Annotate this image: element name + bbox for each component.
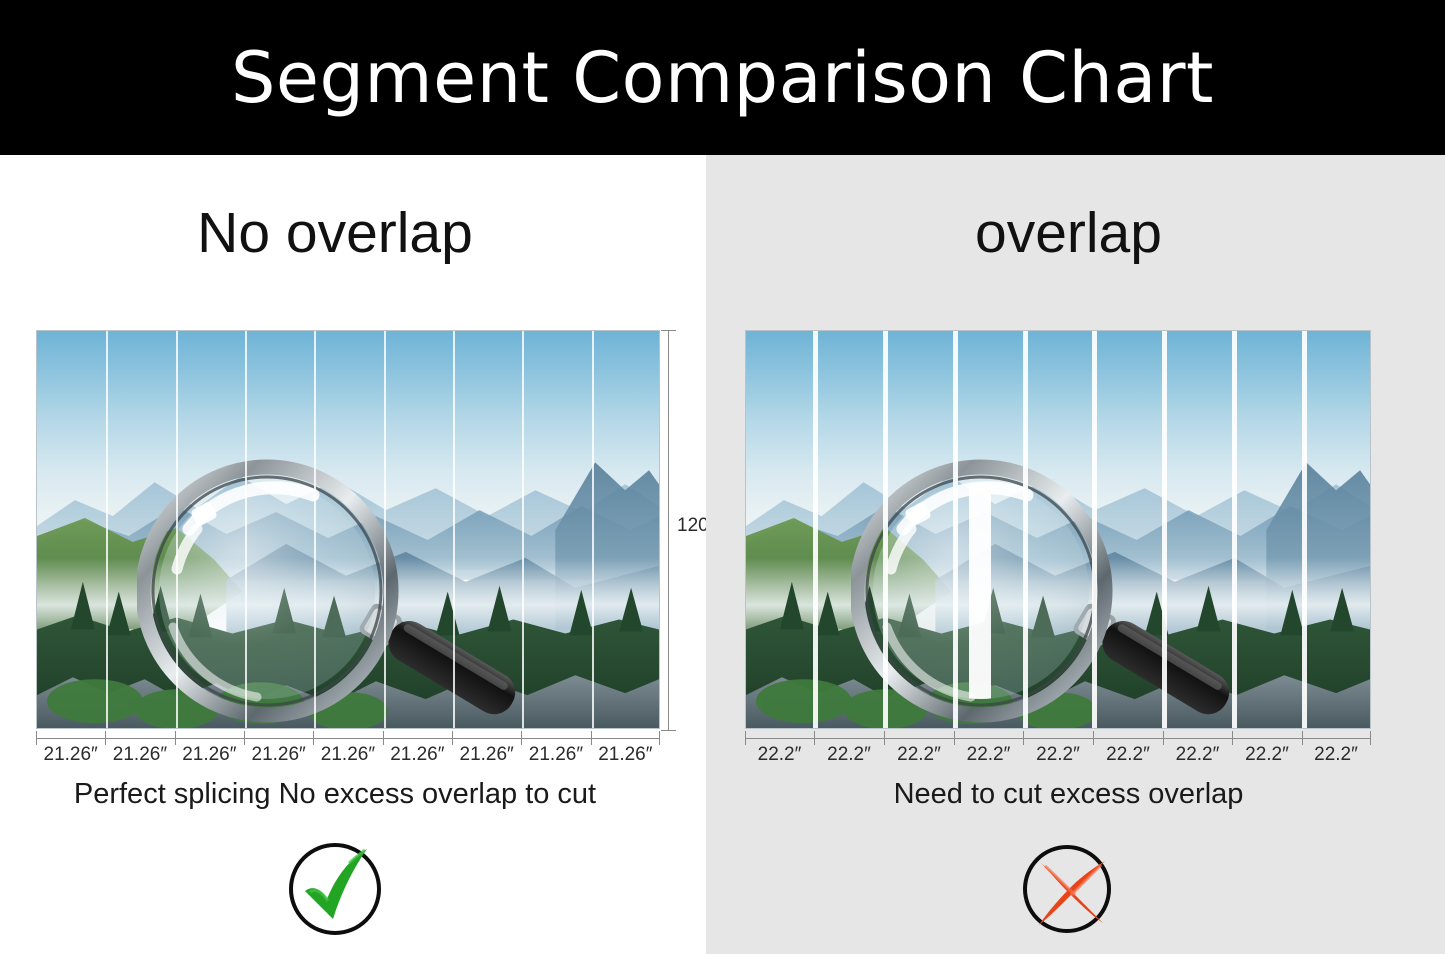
segment-width-label: 21.26″	[452, 744, 521, 766]
panel-left-heading: No overlap	[0, 205, 706, 262]
segment-width-label: 21.26″	[383, 744, 452, 766]
segment-width-label: 22.2″	[1302, 744, 1370, 766]
dimension-tick	[1232, 731, 1233, 745]
chart-left: 21.26″ 21.26″ 21.26″ 21.26″ 21.26″ 21.26…	[36, 330, 660, 773]
dimension-row-left: 21.26″ 21.26″ 21.26″ 21.26″ 21.26″ 21.26…	[36, 731, 660, 773]
dimension-tick	[452, 731, 453, 745]
verdict-right	[706, 835, 1445, 939]
dimension-tick	[1163, 731, 1164, 745]
dimension-tick	[175, 731, 176, 745]
segment-width-label: 21.26″	[521, 744, 590, 766]
segment-divider	[953, 331, 958, 728]
dimension-tick	[383, 731, 384, 745]
height-dimension-tick	[661, 730, 676, 731]
dimension-tick	[884, 731, 885, 745]
segment-divider	[883, 331, 888, 728]
segment-divider	[1302, 331, 1307, 728]
height-dimension-tick	[661, 330, 676, 331]
segment-width-label: 21.26″	[36, 744, 105, 766]
dimension-tick	[313, 731, 314, 745]
comparison-infographic: Segment Comparison Chart No overlap	[0, 0, 1445, 954]
segment-width-label: 21.26″	[591, 744, 660, 766]
segment-dividers-right	[746, 331, 1370, 728]
dimension-tick	[244, 731, 245, 745]
dimension-tick	[521, 731, 522, 745]
segment-divider	[453, 331, 455, 728]
panel-overlap: overlap	[706, 155, 1445, 954]
panel-no-overlap: No overlap	[0, 155, 706, 954]
dimension-tick	[591, 731, 592, 745]
segment-divider	[245, 331, 247, 728]
segment-divider	[592, 331, 594, 728]
segment-divider	[813, 331, 818, 728]
panel-left-caption: Perfect splicing No excess overlap to cu…	[0, 780, 706, 809]
height-dimension-line	[668, 330, 669, 731]
segment-width-label: 22.2″	[1163, 744, 1232, 766]
dimension-baseline	[36, 738, 660, 739]
segment-divider	[1162, 331, 1167, 728]
panel-right-heading: overlap	[706, 205, 1445, 262]
segment-divider	[1023, 331, 1028, 728]
segment-divider	[1232, 331, 1237, 728]
segment-width-label: 22.2″	[954, 744, 1023, 766]
dimension-tick	[659, 731, 660, 745]
verdict-left	[0, 835, 706, 939]
segment-width-label: 22.2″	[745, 744, 814, 766]
chart-right: 22.2″ 22.2″ 22.2″ 22.2″ 22.2″ 22.2″ 22.2…	[745, 330, 1371, 773]
title-banner: Segment Comparison Chart	[0, 0, 1445, 155]
dimension-tick	[105, 731, 106, 745]
segment-divider	[522, 331, 524, 728]
green-check-icon	[283, 835, 387, 939]
segment-dividers-left	[37, 331, 659, 728]
dimension-row-right: 22.2″ 22.2″ 22.2″ 22.2″ 22.2″ 22.2″ 22.2…	[745, 731, 1371, 773]
segment-width-label: 21.26″	[105, 744, 174, 766]
dimension-tick	[1093, 731, 1094, 745]
segment-divider	[314, 331, 316, 728]
segment-width-label: 22.2″	[1093, 744, 1163, 766]
mural-image-right	[745, 330, 1371, 729]
segment-divider	[106, 331, 108, 728]
segment-width-label: 22.2″	[1023, 744, 1093, 766]
panels-container: No overlap	[0, 155, 1445, 954]
dimension-tick	[1370, 731, 1371, 745]
dimension-tick	[745, 731, 746, 745]
segment-width-label: 21.26″	[244, 744, 313, 766]
segment-divider	[176, 331, 178, 728]
dimension-tick	[36, 731, 37, 745]
segment-divider	[1092, 331, 1097, 728]
panel-right-caption: Need to cut excess overlap	[706, 780, 1445, 809]
dimension-tick	[814, 731, 815, 745]
segment-width-label: 22.2″	[1232, 744, 1302, 766]
page-title: Segment Comparison Chart	[231, 43, 1214, 113]
red-cross-icon	[1017, 835, 1121, 939]
dimension-tick	[1302, 731, 1303, 745]
segment-width-label: 22.2″	[884, 744, 954, 766]
dimension-tick	[954, 731, 955, 745]
segment-divider	[384, 331, 386, 728]
segment-width-label: 21.26″	[175, 744, 244, 766]
dimension-baseline	[745, 738, 1371, 739]
mural-image-left	[36, 330, 660, 729]
segment-width-label: 21.26″	[313, 744, 382, 766]
dimension-tick	[1023, 731, 1024, 745]
segment-width-label: 22.2″	[814, 744, 884, 766]
